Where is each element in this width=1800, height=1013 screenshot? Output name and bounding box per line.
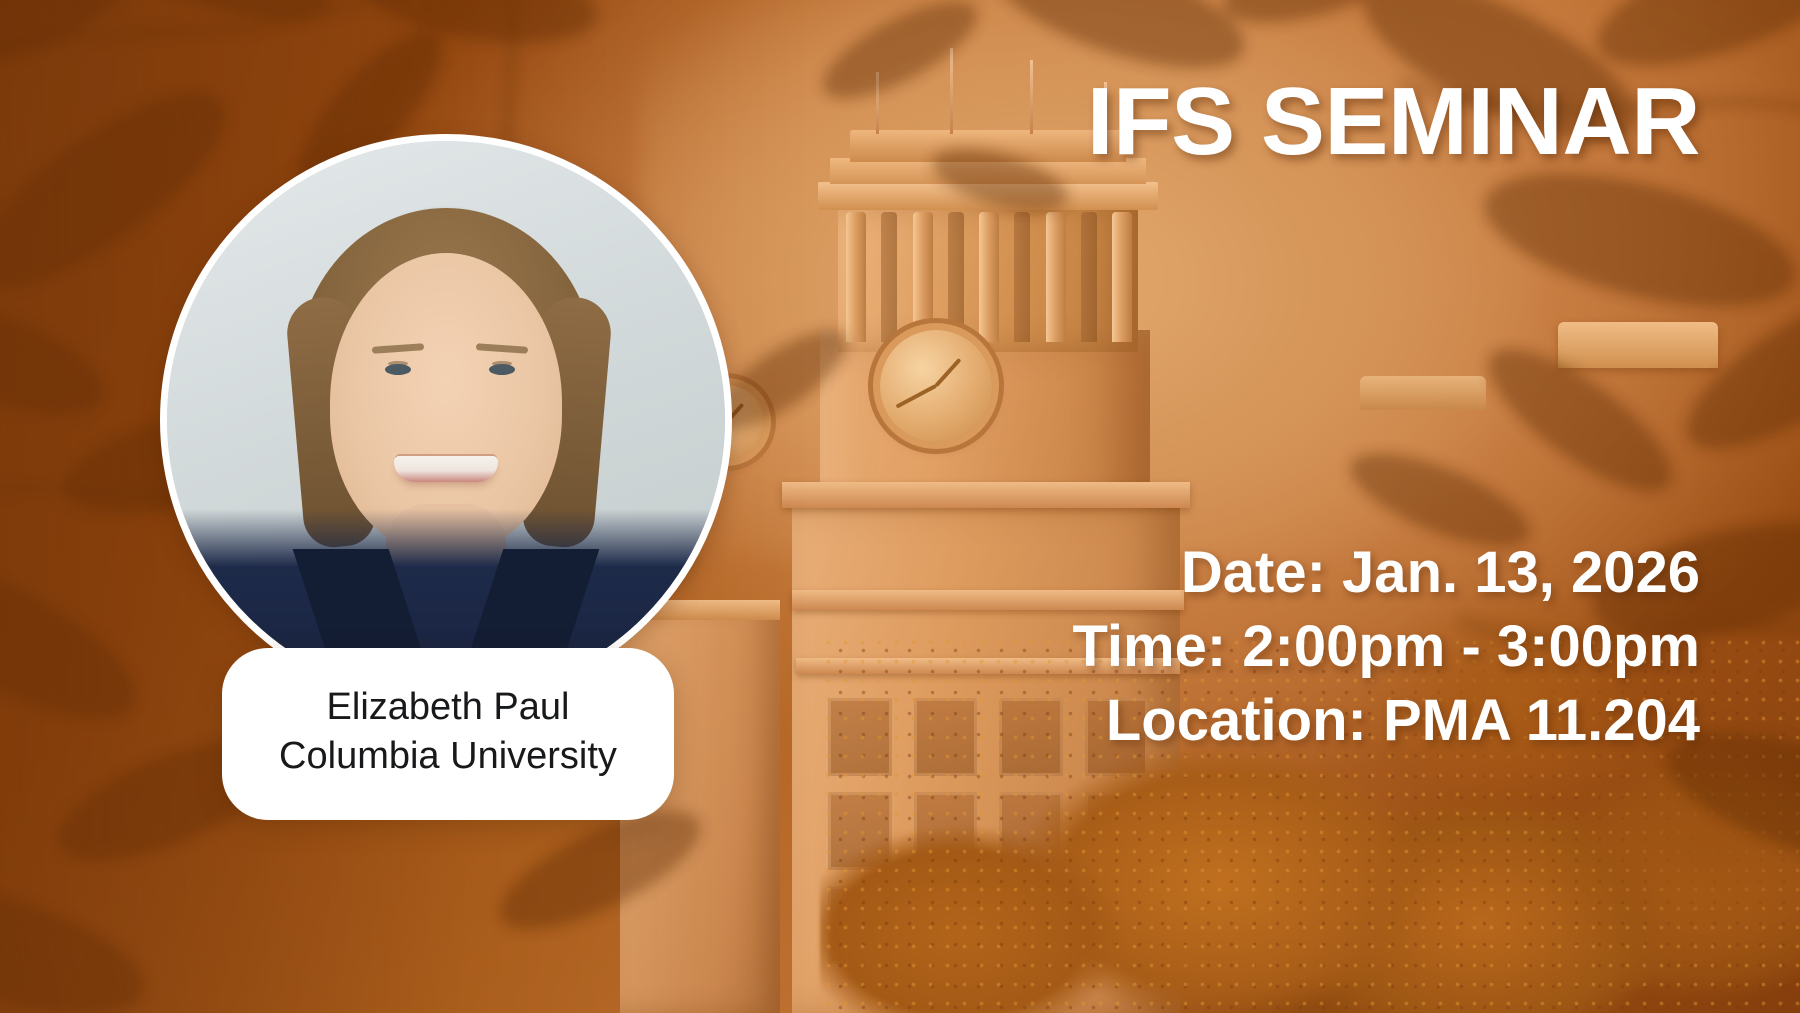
event-details: Date: Jan. 13, 2026 Time: 2:00pm - 3:00p…: [1073, 536, 1700, 759]
event-location: Location: PMA 11.204: [1073, 684, 1700, 758]
portrait-photo: [167, 141, 725, 699]
portrait-smile: [394, 456, 498, 482]
seminar-poster: IFS SEMINAR Date: Jan. 13, 2026 Time: 2:…: [0, 0, 1800, 1013]
page-title: IFS SEMINAR: [1087, 74, 1700, 170]
event-time: Time: 2:00pm - 3:00pm: [1073, 610, 1700, 684]
speaker-portrait: [160, 134, 732, 706]
speaker-name: Elizabeth Paul: [327, 683, 570, 732]
speaker-name-card: Elizabeth Paul Columbia University: [222, 648, 674, 820]
speaker-affiliation: Columbia University: [279, 732, 617, 781]
event-date: Date: Jan. 13, 2026: [1073, 536, 1700, 610]
